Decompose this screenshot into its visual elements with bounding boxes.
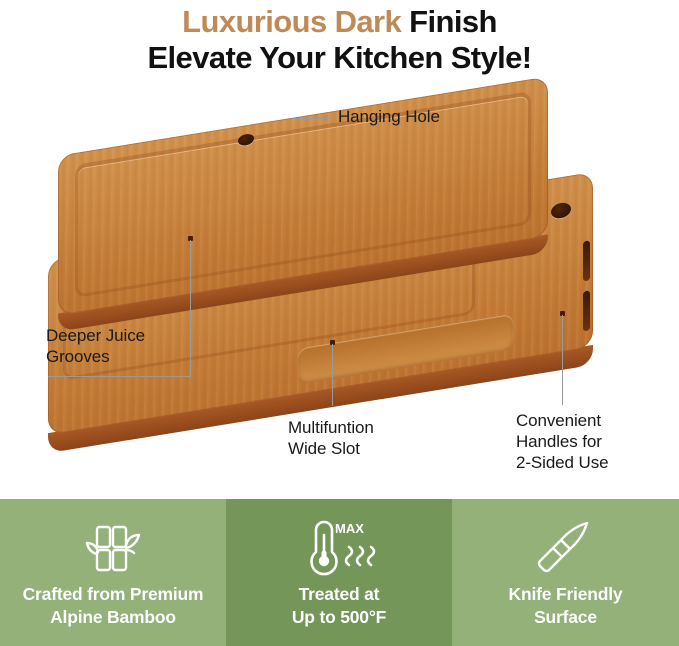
headline-line-1: Luxurious Dark Finish: [0, 4, 679, 40]
hanging-hole-lower: [551, 201, 571, 219]
callout-convenient-handles: Convenient Handles for 2-Sided Use: [516, 410, 608, 473]
thermometer-max-label: MAX: [335, 521, 364, 536]
leader-line-hanging-hole: [292, 118, 332, 119]
feature-panel-bamboo[interactable]: Crafted from Premium Alpine Bamboo: [0, 499, 226, 646]
handle-slot-lower: [583, 290, 590, 331]
leader-line-wide-slot: [332, 344, 333, 406]
callout-hanging-hole: Hanging Hole: [338, 106, 440, 127]
bamboo-icon: [80, 515, 146, 581]
feature-label-knife: Knife Friendly Surface: [509, 583, 623, 629]
feature-label-bamboo: Crafted from Premium Alpine Bamboo: [23, 583, 204, 629]
feature-label-temperature: Treated at Up to 500°F: [292, 583, 386, 629]
callout-multifunction-wide-slot: Multifuntion Wide Slot: [288, 417, 374, 459]
handle-slot-upper: [583, 240, 590, 281]
knife-icon: [530, 515, 602, 581]
leader-line-juice-grooves-vertical: [190, 240, 191, 376]
headline-rest-text: Finish: [401, 4, 497, 39]
headline-accent-text: Luxurious Dark: [182, 4, 401, 39]
infographic-root: Luxurious Dark Finish Elevate Your Kitch…: [0, 0, 679, 646]
headline-block: Luxurious Dark Finish Elevate Your Kitch…: [0, 0, 679, 76]
headline-line-2: Elevate Your Kitchen Style!: [0, 40, 679, 76]
leader-line-handles: [562, 315, 563, 405]
callout-deeper-juice-grooves: Deeper Juice Grooves: [46, 325, 145, 367]
feature-strip: Crafted from Premium Alpine Bamboo MAX T…: [0, 499, 679, 646]
thermometer-icon: MAX: [291, 515, 387, 581]
feature-panel-temperature[interactable]: MAX Treated at Up to 500°F: [226, 499, 452, 646]
feature-panel-knife[interactable]: Knife Friendly Surface: [452, 499, 679, 646]
leader-line-juice-grooves-horizontal: [48, 376, 191, 377]
